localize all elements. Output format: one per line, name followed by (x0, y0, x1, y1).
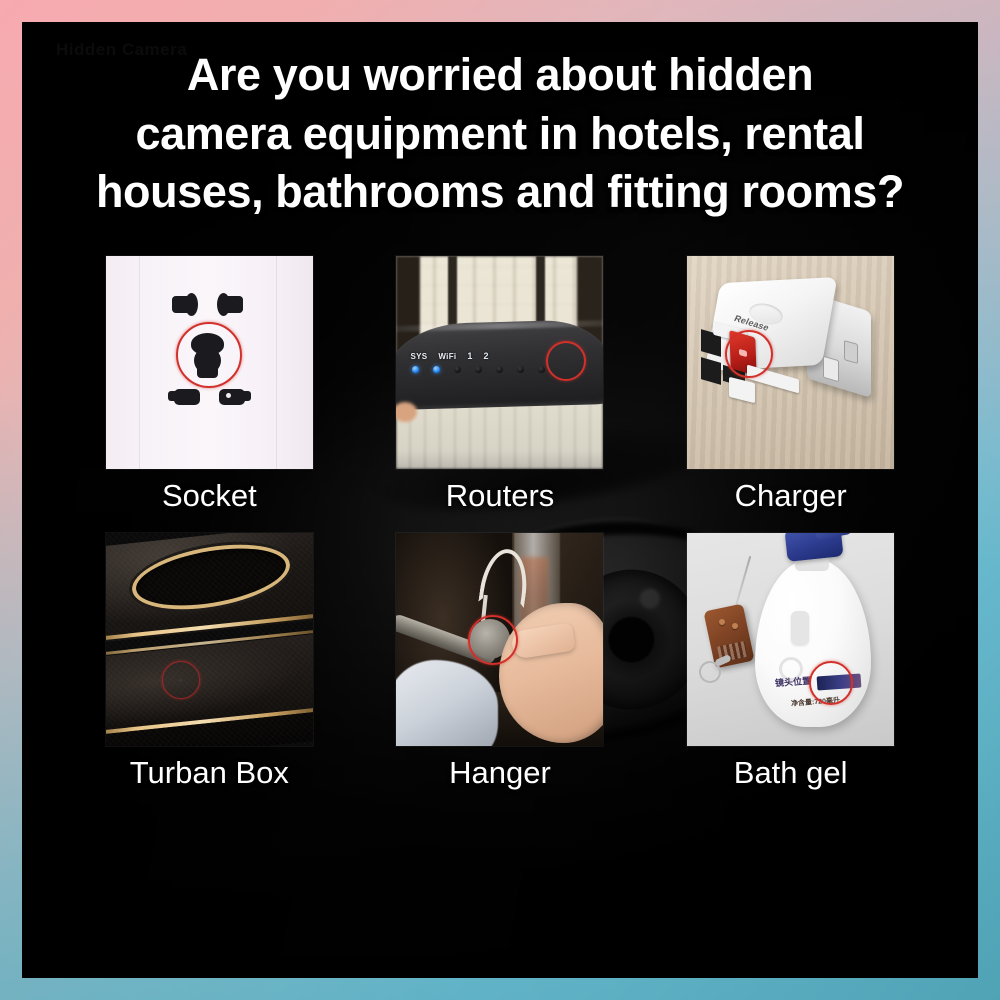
router-photo: SYS WiFi 1 2 (396, 256, 603, 469)
product-card-bath-gel[interactable]: 镜头位置 净含量:720毫升 Bath gel (645, 533, 936, 788)
product-card-hanger[interactable]: Hanger (355, 533, 646, 788)
highlight-circle-icon (176, 322, 242, 388)
product-label-turban-box: Turban Box (130, 757, 289, 788)
hanger-photo (396, 533, 603, 746)
product-label-routers: Routers (446, 480, 555, 511)
highlight-circle-icon (546, 341, 586, 381)
product-label-hanger: Hanger (449, 757, 551, 788)
router-led-4 (517, 366, 524, 373)
highlight-circle-icon (162, 661, 200, 699)
highlight-circle-icon (468, 615, 518, 665)
page-title: Are you worried about hidden camera equi… (22, 22, 978, 222)
product-label-socket: Socket (162, 480, 257, 511)
product-grid: Socket SYS WiFi 1 (22, 256, 978, 788)
charger-photo: Release (687, 256, 894, 469)
router-led-label-sys: SYS (410, 352, 427, 361)
router-led-label-2: 2 (483, 351, 488, 361)
router-led-1 (454, 366, 461, 373)
router-led-sys (412, 366, 419, 373)
highlight-circle-icon (809, 661, 853, 705)
poster-frame: Hidden Camera Are you worried about hidd… (0, 0, 1000, 1000)
socket-photo (106, 256, 313, 469)
product-card-routers[interactable]: SYS WiFi 1 2 (355, 256, 646, 511)
bath-gel-photo: 镜头位置 净含量:720毫升 (687, 533, 894, 746)
router-led-3 (496, 366, 503, 373)
router-led-row: SYS WiFi 1 2 (410, 351, 488, 361)
socket-hole-bottom-left (174, 389, 200, 405)
poster-stage: Hidden Camera Are you worried about hidd… (22, 22, 978, 978)
router-led-2 (475, 366, 482, 373)
socket-hole-top-left (172, 296, 196, 313)
title-line-1: Are you worried about hidden (44, 46, 956, 105)
turban-box-photo (106, 533, 313, 746)
bottle-label-cn: 镜头位置 (775, 673, 812, 688)
socket-hole-top-right (219, 296, 243, 313)
product-label-bath-gel: Bath gel (734, 757, 848, 788)
router-led-hidden-lens (538, 366, 545, 373)
socket-hole-bottom-right (219, 389, 245, 405)
router-led-label-1: 1 (467, 351, 472, 361)
product-card-turban-box[interactable]: Turban Box (64, 533, 355, 788)
router-led-label-wifi: WiFi (438, 352, 456, 361)
product-label-charger: Charger (735, 480, 847, 511)
title-line-3: houses, bathrooms and fitting rooms? (44, 163, 956, 222)
highlight-circle-icon (725, 330, 773, 378)
product-card-charger[interactable]: Release Charger (645, 256, 936, 511)
title-line-2: camera equipment in hotels, rental (44, 105, 956, 164)
product-card-socket[interactable]: Socket (64, 256, 355, 511)
router-led-wifi (433, 366, 440, 373)
